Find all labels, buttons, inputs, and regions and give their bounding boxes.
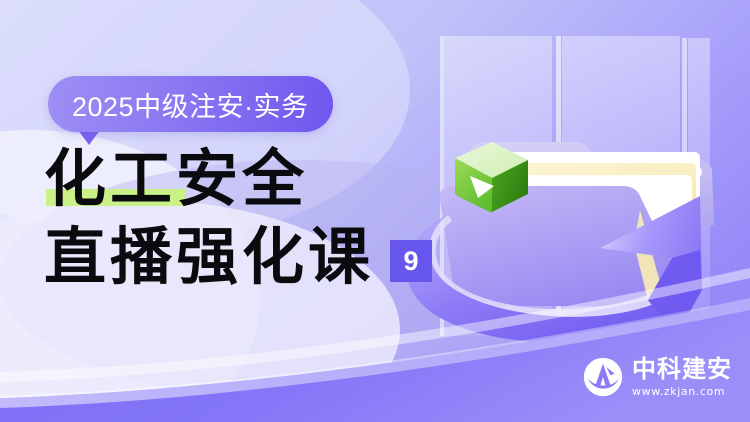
course-category-label: 2025中级注安·实务 — [72, 85, 309, 124]
course-promo-banner: 2025中级注安·实务 化工安全 直播强化课 9 中科建安 www.zkjan.… — [0, 0, 750, 422]
course-category-badge: 2025中级注安·实务 — [48, 76, 333, 132]
headline-line-1: 化工安全 — [44, 148, 432, 210]
brand-name: 中科建安 — [632, 357, 732, 383]
brand-url: www.zkjan.com — [632, 385, 732, 398]
brand-logo-text: 中科建安 www.zkjan.com — [632, 357, 732, 398]
headline-line-2-text: 直播强化课 — [44, 226, 374, 288]
brand-logo[interactable]: 中科建安 www.zkjan.com — [583, 357, 732, 398]
headline-line-1-text: 化工安全 — [44, 148, 308, 210]
zhongke-circle-mountain-icon — [583, 357, 623, 397]
headline-block: 化工安全 直播强化课 9 — [44, 148, 432, 288]
episode-number-badge: 9 — [390, 240, 432, 282]
headline-line-2: 直播强化课 9 — [44, 226, 432, 288]
